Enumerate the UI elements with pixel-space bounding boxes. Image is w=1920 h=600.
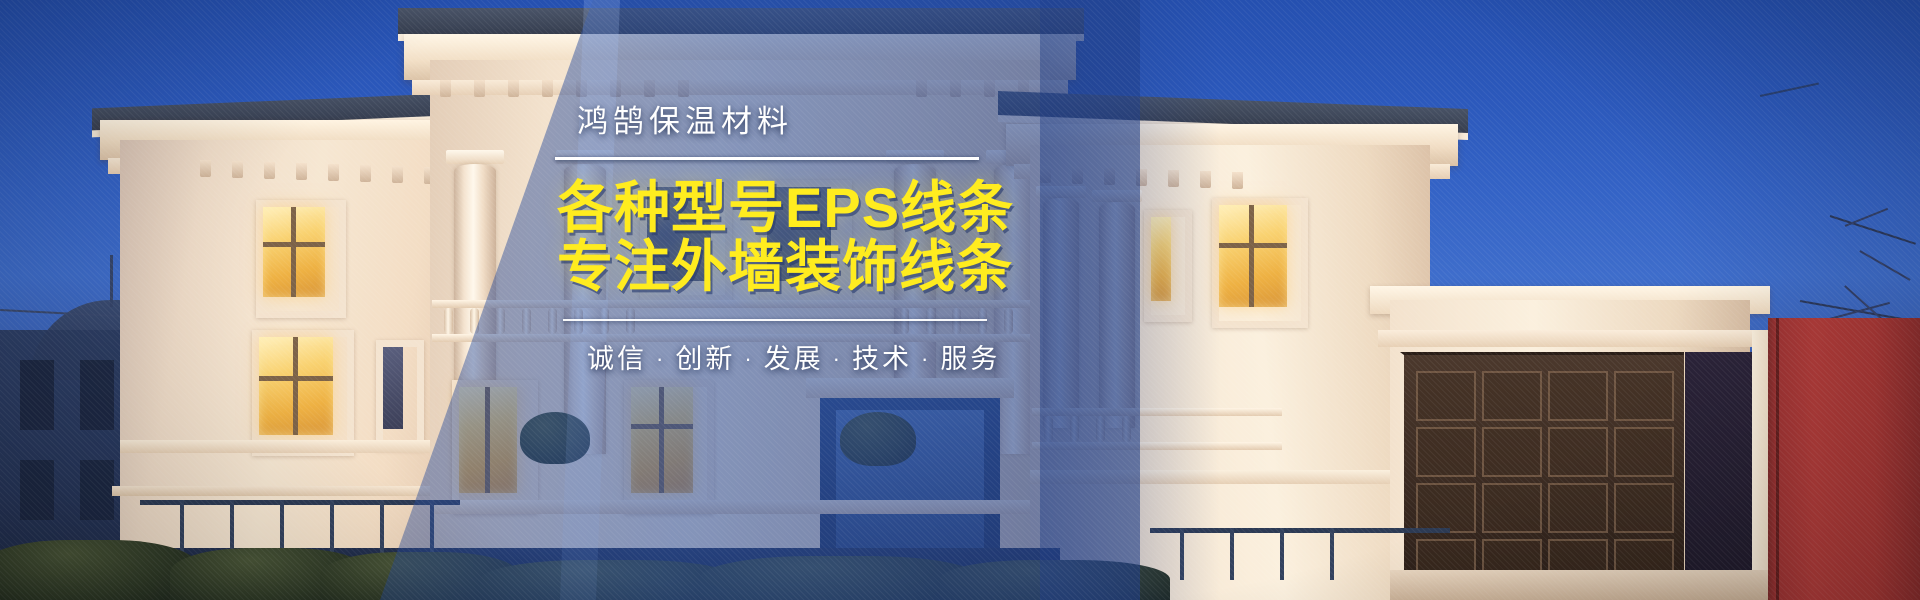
dentil xyxy=(644,80,655,97)
garage-panel xyxy=(1548,427,1608,477)
banner-text-block: 鸿鹄保温材料 各种型号EPS线条 专注外墙装饰线条 诚信·创新·发展·技术·服务 xyxy=(555,96,1195,376)
garage-panel xyxy=(1482,483,1542,533)
garage-panel xyxy=(1548,483,1608,533)
tagline-item-1: 诚信 xyxy=(587,344,647,374)
garage-panel xyxy=(1416,483,1476,533)
window-mullion xyxy=(485,387,490,493)
tagline-item-5: 服务 xyxy=(940,344,1000,374)
tagline-separator: · xyxy=(647,346,675,371)
dentil xyxy=(508,80,519,97)
garage-panel xyxy=(1416,371,1476,421)
garage-panel xyxy=(1482,427,1542,477)
baluster xyxy=(1096,416,1105,442)
tagline-item-2: 创新 xyxy=(675,344,735,374)
fence-rail xyxy=(140,500,460,505)
window-mullion xyxy=(631,424,693,429)
dentil xyxy=(950,80,961,97)
fence-bar xyxy=(1330,528,1334,580)
divider-bottom xyxy=(563,319,987,321)
window-mullion xyxy=(259,376,333,381)
entrance-lintel xyxy=(806,378,1014,398)
dentil xyxy=(678,80,689,97)
headline-line-1: 各种型号EPS线条 xyxy=(557,176,1014,239)
fence-bar xyxy=(430,500,434,560)
column-capital xyxy=(446,150,504,164)
dentil xyxy=(610,80,621,97)
fence-bar xyxy=(380,500,384,560)
fence-bar xyxy=(1280,528,1284,580)
red-container xyxy=(1768,318,1920,600)
fence-bar xyxy=(1230,528,1234,580)
dentil xyxy=(264,162,275,179)
string-course xyxy=(120,440,450,453)
tagline-item-4: 技术 xyxy=(852,344,912,374)
window-mullion xyxy=(1219,243,1287,248)
garage-panel xyxy=(1548,371,1608,421)
hedge xyxy=(940,560,1170,600)
dentil xyxy=(916,80,927,97)
window-mullion xyxy=(1249,205,1254,307)
tagline-separator: · xyxy=(735,346,763,371)
dentil xyxy=(200,160,211,177)
dentil xyxy=(232,161,243,178)
dentil xyxy=(984,80,995,97)
dentil xyxy=(474,80,485,97)
baluster xyxy=(496,308,505,334)
baluster xyxy=(470,308,479,334)
headline: 各种型号EPS线条 专注外墙装饰线条 xyxy=(557,178,1195,297)
dentil xyxy=(360,165,371,182)
dentil xyxy=(576,80,587,97)
baluster xyxy=(444,308,453,334)
garage-door xyxy=(1400,352,1684,585)
tagline: 诚信·创新·发展·技术·服务 xyxy=(587,337,1195,376)
dentil xyxy=(440,80,451,97)
baluster xyxy=(522,308,531,334)
garage-panel xyxy=(1416,427,1476,477)
garage-cornice-band xyxy=(1378,330,1762,347)
hero-banner: 鸿鹄保温材料 各种型号EPS线条 专注外墙装饰线条 诚信·创新·发展·技术·服务 xyxy=(0,0,1920,600)
balcony-rail-bottom xyxy=(1032,442,1282,450)
headline-line-2: 专注外墙装饰线条 xyxy=(557,237,1195,296)
garage-panel xyxy=(1614,483,1674,533)
dark-window xyxy=(383,347,403,429)
planter-shrub xyxy=(520,412,590,464)
dentil xyxy=(1232,172,1243,189)
dentil xyxy=(542,80,553,97)
string-course xyxy=(430,500,1050,514)
tagline-item-3: 发展 xyxy=(764,344,824,374)
dentil xyxy=(328,164,339,181)
hedge xyxy=(700,556,980,600)
fence-rail xyxy=(1150,528,1450,533)
dentil xyxy=(1200,171,1211,188)
red-container-seam xyxy=(1776,318,1779,600)
string-course xyxy=(1030,470,1430,484)
window-mullion xyxy=(659,387,664,493)
divider-top xyxy=(555,157,979,160)
planter-shrub xyxy=(840,412,916,466)
dentil xyxy=(296,163,307,180)
window-mullion xyxy=(263,242,325,247)
balcony-rail xyxy=(1032,408,1282,416)
tagline-separator: · xyxy=(824,346,852,371)
brand-name: 鸿鹄保温材料 xyxy=(577,96,1195,141)
garage-panel xyxy=(1614,427,1674,477)
window-mullion xyxy=(291,207,296,297)
window-mullion xyxy=(293,337,298,435)
driveway xyxy=(1390,570,1780,600)
garage-panel xyxy=(1482,371,1542,421)
garage-panel xyxy=(1614,371,1674,421)
baluster xyxy=(1044,416,1053,442)
garage-opening-shadow xyxy=(1685,352,1755,582)
string-course xyxy=(112,486,458,496)
baluster xyxy=(1122,416,1131,442)
fence-bar xyxy=(1180,528,1184,580)
tagline-separator: · xyxy=(912,346,940,371)
baluster xyxy=(1070,416,1079,442)
dentil xyxy=(392,166,403,183)
